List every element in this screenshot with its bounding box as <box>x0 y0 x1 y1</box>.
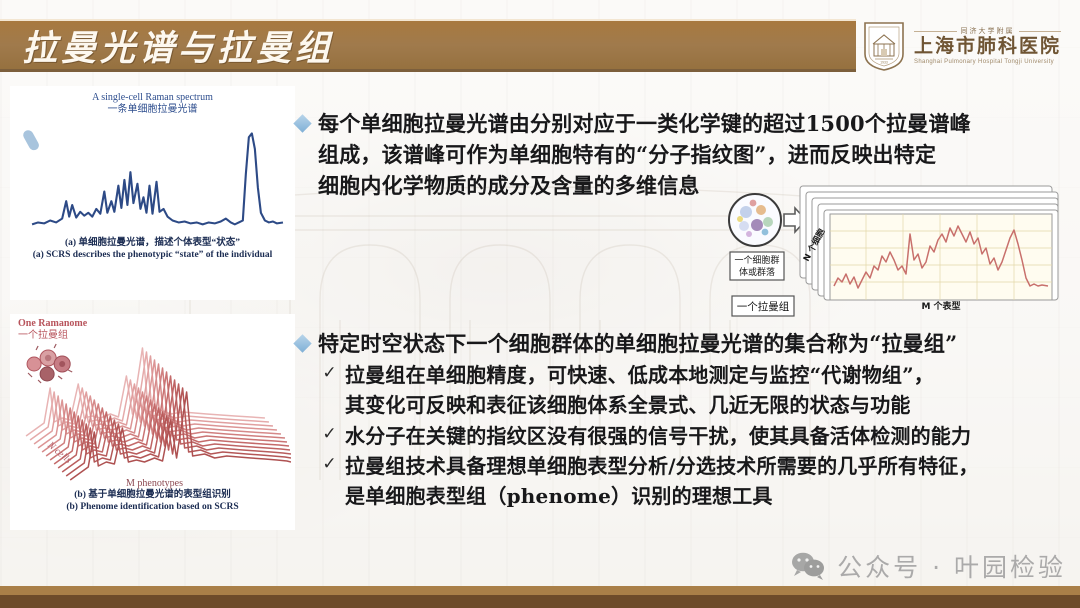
check-3-line-1: 拉曼组技术具备理想单细胞表型分析/分选技术所需要的几乎所有特征， <box>345 452 979 482</box>
bullet-1-line-1: 每个单细胞拉曼光谱由分别对应于一类化学键的超过1500个拉曼谱峰 <box>318 108 971 139</box>
diamond-bullet-icon <box>293 335 311 353</box>
figure-b-label: One Ramanome 一个拉曼组 <box>18 318 87 342</box>
check-3-text: 拉曼组技术具备理想单细胞表型分析/分选技术所需要的几乎所有特征， 是单细胞表型组… <box>345 452 979 511</box>
bullet-2-text: 特定时空状态下一个细胞群体的单细胞拉曼光谱的集合称为“拉曼组” <box>318 328 957 359</box>
stacked-spectrum-cards: M 个表型 N 个细胞 <box>800 186 1058 312</box>
figure-b-panel: One Ramanome 一个拉曼组 <box>10 314 295 530</box>
page-title: 拉曼光谱与拉曼组 <box>22 20 334 71</box>
slide-canvas: 拉曼光谱与拉曼组 1933 同济大学附属 上海市肺科医院 Shanghai Pu… <box>0 0 1080 608</box>
logo-subtitle-top: 同济大学附属 <box>914 28 1061 35</box>
diamond-bullet-icon <box>293 114 311 132</box>
check-item-1: ✓ 拉曼组在单细胞精度，可快速、低成本地测定与监控“代谢物组”， 其变化可反映和… <box>322 361 1072 420</box>
svg-text:一个细胞群: 一个细胞群 <box>734 254 779 266</box>
wechat-watermark: 公众号 · 叶园检验 <box>789 548 1066 584</box>
logo-rule-left <box>914 31 957 32</box>
figure-column: A single-cell Raman spectrum 一条单细胞拉曼光谱 (… <box>10 86 295 530</box>
figure-a-title-cn: 一条单细胞拉曼光谱 <box>14 104 291 116</box>
figure-a-spectrum-plot <box>14 116 291 236</box>
svg-text:1933: 1933 <box>880 61 888 65</box>
figure-b-axis-bottom-label: M phenotypes <box>126 478 183 489</box>
check-2-text: 水分子在关键的指纹区没有很强的信号干扰，使其具备活体检测的能力 <box>345 422 971 452</box>
check-icon: ✓ <box>322 364 337 381</box>
bottom-bar-dark <box>0 595 1080 608</box>
check-1-line-1: 拉曼组在单细胞精度，可快速、低成本地测定与监控“代谢物组”， <box>345 361 934 391</box>
check-icon: ✓ <box>322 455 337 472</box>
svg-text:体或群落: 体或群落 <box>739 266 775 278</box>
logo-english-name: Shanghai Pulmonary Hospital Tongji Unive… <box>914 59 1061 65</box>
figure-b-label-cn: 一个拉曼组 <box>18 330 87 342</box>
check-item-2: ✓ 水分子在关键的指纹区没有很强的信号干扰，使其具备活体检测的能力 <box>322 422 1072 452</box>
ramanome-schematic: 一个细胞群 体或群落 一个拉曼组 <box>716 182 1064 322</box>
slide-title-banner: 拉曼光谱与拉曼组 <box>0 19 856 72</box>
figure-a-caption-en: (a) SCRS describes the phenotypic “state… <box>14 250 291 262</box>
check-2-line-1: 水分子在关键的指纹区没有很强的信号干扰，使其具备活体检测的能力 <box>345 422 971 452</box>
figure-a-caption: (a) 单细胞拉曼光谱，描述个体表型“状态” (a) SCRS describe… <box>14 238 291 262</box>
cell-community-label-box: 一个细胞群 体或群落 <box>730 252 784 280</box>
ramanome-label-box: 一个拉曼组 <box>732 296 794 316</box>
m-phenotypes-label: M 个表型 <box>921 300 960 312</box>
check-icon: ✓ <box>322 425 337 442</box>
logo-rule-right <box>1019 31 1062 32</box>
hospital-crest-icon: 1933 <box>862 20 906 72</box>
logo-main-name: 上海市肺科医院 <box>914 37 1061 56</box>
wechat-icon <box>789 551 827 581</box>
bullet-2-line-1: 特定时空状态下一个细胞群体的单细胞拉曼光谱的集合称为“拉曼组” <box>318 328 957 359</box>
figure-b-waterfall-plot: N cells M phenotypes <box>14 318 291 490</box>
check-3-line-2: 是单细胞表型组（phenome）识别的理想工具 <box>345 482 979 512</box>
check-1-text: 拉曼组在单细胞精度，可快速、低成本地测定与监控“代谢物组”， 其变化可反映和表征… <box>345 361 934 420</box>
watermark-text: 公众号 · 叶园检验 <box>837 548 1066 584</box>
figure-a-title: A single-cell Raman spectrum 一条单细胞拉曼光谱 <box>14 92 291 116</box>
check-1-line-2: 其变化可反映和表征该细胞体系全景式、几近无限的状态与功能 <box>345 391 934 421</box>
hospital-logo: 1933 同济大学附属 上海市肺科医院 Shanghai Pulmonary H… <box>862 18 1072 74</box>
figure-b-label-en: One Ramanome <box>18 318 87 330</box>
check-item-3: ✓ 拉曼组技术具备理想单细胞表型分析/分选技术所需要的几乎所有特征， 是单细胞表… <box>322 452 1072 511</box>
svg-text:一个拉曼组: 一个拉曼组 <box>737 300 790 313</box>
figure-a-title-en: A single-cell Raman spectrum <box>14 92 291 104</box>
logo-subtitle-text: 同济大学附属 <box>961 28 1015 35</box>
bottom-bar-light <box>0 586 1080 595</box>
figure-b-caption-en: (b) Phenome identification based on SCRS <box>14 502 291 514</box>
figure-a-panel: A single-cell Raman spectrum 一条单细胞拉曼光谱 (… <box>10 86 295 300</box>
bullet-paragraph-2: 特定时空状态下一个细胞群体的单细胞拉曼光谱的集合称为“拉曼组” <box>296 328 1072 359</box>
bottom-bar <box>0 586 1080 608</box>
figure-b-caption-cn: (b) 基于单细胞拉曼光谱的表型组识别 <box>14 490 291 502</box>
bullet-1-line-2: 组成，该谱峰可作为单细胞特有的“分子指纹图”，进而反映出特定 <box>318 139 971 170</box>
figure-a-caption-cn: (a) 单细胞拉曼光谱，描述个体表型“状态” <box>14 238 291 250</box>
figure-b-caption: (b) 基于单细胞拉曼光谱的表型组识别 (b) Phenome identifi… <box>14 490 291 514</box>
cell-cluster-illustration <box>27 344 72 383</box>
check-list: ✓ 拉曼组在单细胞精度，可快速、低成本地测定与监控“代谢物组”， 其变化可反映和… <box>296 361 1072 511</box>
